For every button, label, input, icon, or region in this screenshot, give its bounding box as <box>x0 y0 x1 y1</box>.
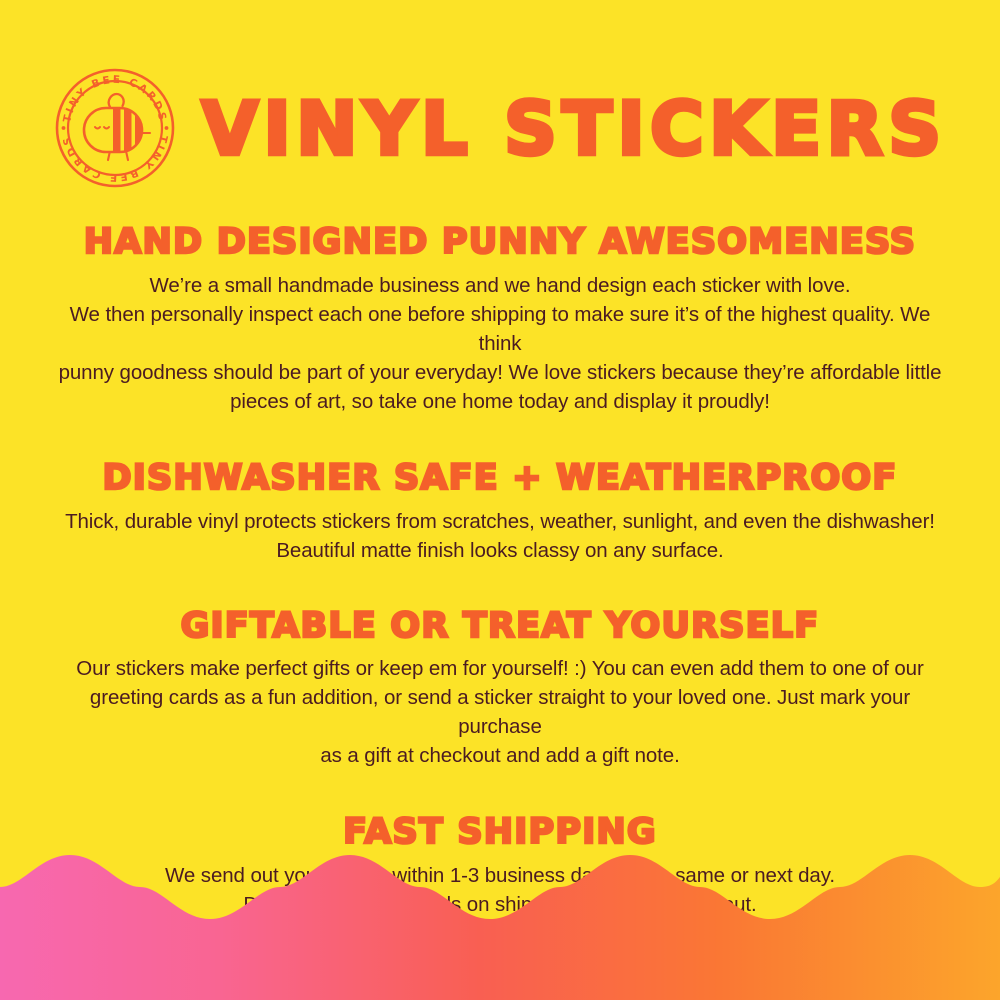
body-line: Our stickers make perfect gifts or keep … <box>50 654 950 683</box>
tiny-bee-cards-logo: TINY BEE CARDS TINY BEE CARDS <box>54 67 176 189</box>
body-line: pieces of art, so take one home today an… <box>50 387 950 416</box>
wavy-bottom-border <box>0 840 1000 1000</box>
content-sections: HAND DESIGNED PUNNY AWESOMENESS We’re a … <box>0 224 1000 919</box>
section-hand-designed: HAND DESIGNED PUNNY AWESOMENESS We’re a … <box>0 224 1000 416</box>
section-body: We’re a small handmade business and we h… <box>50 271 950 416</box>
body-line: Thick, durable vinyl protects stickers f… <box>50 507 950 536</box>
section-giftable: GIFTABLE OR TREAT YOURSELF Our stickers … <box>0 608 1000 771</box>
title-wrap: VINYL STICKERS <box>202 93 947 166</box>
section-spacer <box>0 416 1000 460</box>
section-spacer <box>0 770 1000 814</box>
section-body: Thick, durable vinyl protects stickers f… <box>50 507 950 565</box>
section-dishwasher-safe: DISHWASHER SAFE + WEATHERPROOF Thick, du… <box>0 460 1000 565</box>
body-line: Beautiful matte finish looks classy on a… <box>50 536 950 565</box>
section-heading: HAND DESIGNED PUNNY AWESOMENESS <box>0 224 1000 262</box>
body-line: punny goodness should be part of your ev… <box>50 358 950 387</box>
body-line: We’re a small handmade business and we h… <box>50 271 950 300</box>
poster-canvas: TINY BEE CARDS TINY BEE CARDS <box>0 0 1000 1000</box>
section-spacer <box>0 565 1000 608</box>
section-heading: DISHWASHER SAFE + WEATHERPROOF <box>0 460 1000 498</box>
section-heading: GIFTABLE OR TREAT YOURSELF <box>0 608 1000 646</box>
section-body: Our stickers make perfect gifts or keep … <box>50 654 950 770</box>
header: TINY BEE CARDS TINY BEE CARDS <box>0 68 1000 188</box>
body-line: greeting cards as a fun addition, or sen… <box>50 683 950 741</box>
body-line: We then personally inspect each one befo… <box>50 300 950 358</box>
body-line: as a gift at checkout and add a gift not… <box>50 741 950 770</box>
page-title: VINYL STICKERS <box>202 93 947 166</box>
